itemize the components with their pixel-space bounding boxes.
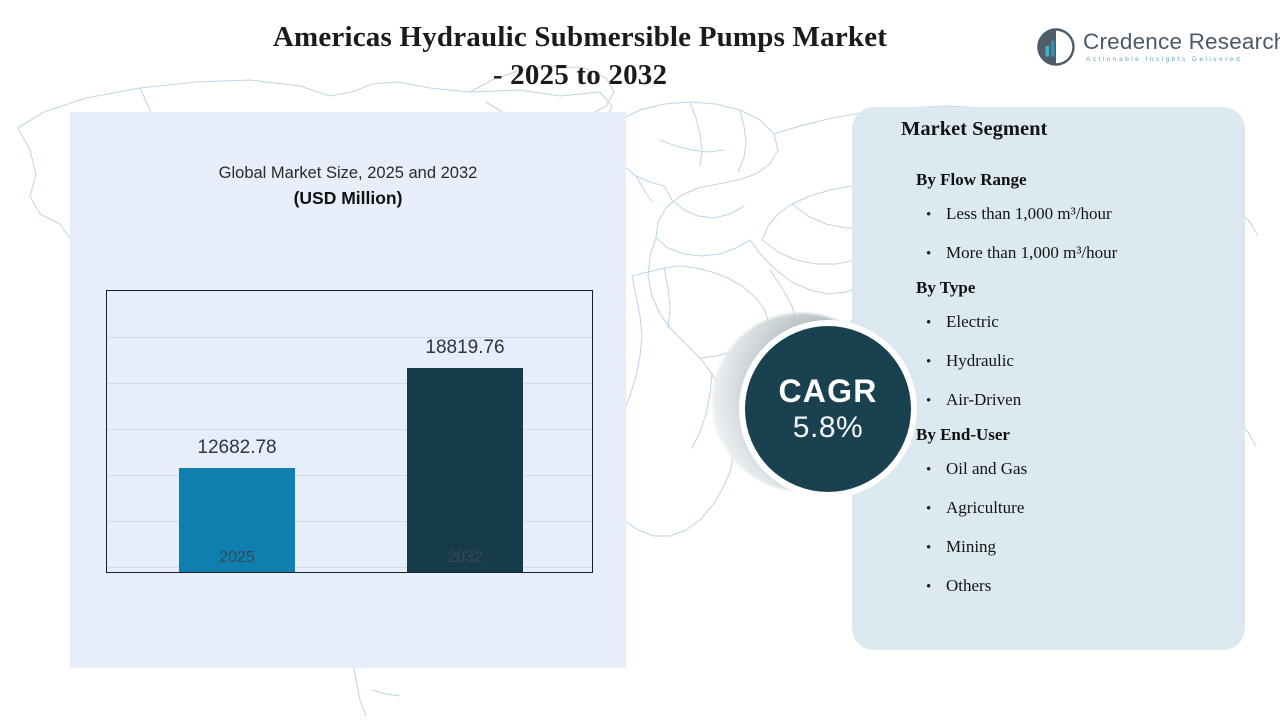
chart-heading-line-2: (USD Million): [70, 185, 626, 211]
list-item[interactable]: • Mining: [916, 528, 1236, 567]
list-item[interactable]: • Oil and Gas: [916, 450, 1236, 489]
x-axis-tick-2032: 2032: [407, 549, 523, 567]
list-item[interactable]: • Agriculture: [916, 489, 1236, 528]
brand-logo[interactable]: Credence Research Actionable Insights De…: [1036, 24, 1260, 70]
cagr-badge: CAGR 5.8%: [712, 313, 917, 498]
chart-heading: Global Market Size, 2025 and 2032 (USD M…: [70, 161, 626, 211]
x-axis-tick-2025: 2025: [179, 549, 295, 567]
logo-text: Credence Research Actionable Insights De…: [1083, 30, 1280, 65]
segment-item-label: Agriculture: [946, 489, 1024, 527]
bullet-icon: •: [916, 568, 946, 606]
segment-group-heading-type: By Type: [916, 273, 1236, 303]
segment-item-label: More than 1,000 m³/hour: [946, 234, 1117, 272]
page-title-line-1: Americas Hydraulic Submersible Pumps Mar…: [150, 18, 1010, 56]
bullet-icon: •: [916, 196, 946, 234]
bullet-icon: •: [916, 304, 946, 342]
segment-item-label: Others: [946, 567, 991, 605]
cagr-circle: CAGR 5.8%: [745, 326, 911, 492]
segment-group-heading-end-user: By End-User: [916, 420, 1236, 450]
segment-item-label: Electric: [946, 303, 999, 341]
segment-item-label: Mining: [946, 528, 996, 566]
list-item[interactable]: • Air-Driven: [916, 381, 1236, 420]
bar-value-label-2025: 12682.78: [169, 437, 305, 459]
segment-item-label: Air-Driven: [946, 381, 1021, 419]
segment-group-heading-flow-range: By Flow Range: [916, 165, 1236, 195]
infographic-page: Americas Hydraulic Submersible Pumps Mar…: [0, 0, 1280, 720]
list-item[interactable]: • Electric: [916, 303, 1236, 342]
market-segment-list: By Flow Range • Less than 1,000 m³/hour …: [916, 165, 1236, 606]
cagr-label: CAGR: [778, 372, 877, 410]
bar-2032[interactable]: [407, 368, 523, 572]
cagr-value: 5.8%: [793, 410, 863, 446]
logo-brand-name: Credence Research: [1083, 30, 1280, 54]
bullet-icon: •: [916, 451, 946, 489]
chart-panel: Global Market Size, 2025 and 2032 (USD M…: [70, 112, 626, 668]
bar-chart-plot-area: 12682.78 2025 18819.76 2032: [106, 290, 593, 573]
list-item[interactable]: • Less than 1,000 m³/hour: [916, 195, 1236, 234]
list-item[interactable]: • More than 1,000 m³/hour: [916, 234, 1236, 273]
bullet-icon: •: [916, 382, 946, 420]
segment-item-label: Oil and Gas: [946, 450, 1027, 488]
segment-item-label: Hydraulic: [946, 342, 1014, 380]
list-item[interactable]: • Others: [916, 567, 1236, 606]
bar-value-label-2032: 18819.76: [397, 337, 533, 359]
segment-item-label: Less than 1,000 m³/hour: [946, 195, 1112, 233]
chart-heading-line-1: Global Market Size, 2025 and 2032: [70, 161, 626, 185]
page-title-line-2: - 2025 to 2032: [150, 56, 1010, 94]
bullet-icon: •: [916, 490, 946, 528]
list-item[interactable]: • Hydraulic: [916, 342, 1236, 381]
page-title: Americas Hydraulic Submersible Pumps Mar…: [150, 18, 1010, 94]
bullet-icon: •: [916, 529, 946, 567]
bullet-icon: •: [916, 343, 946, 381]
bullet-icon: •: [916, 235, 946, 273]
logo-tagline: Actionable Insights Delivered: [1083, 54, 1280, 65]
bar-chart-circle-icon: [1036, 27, 1076, 67]
market-segment-title: Market Segment: [901, 118, 1047, 141]
